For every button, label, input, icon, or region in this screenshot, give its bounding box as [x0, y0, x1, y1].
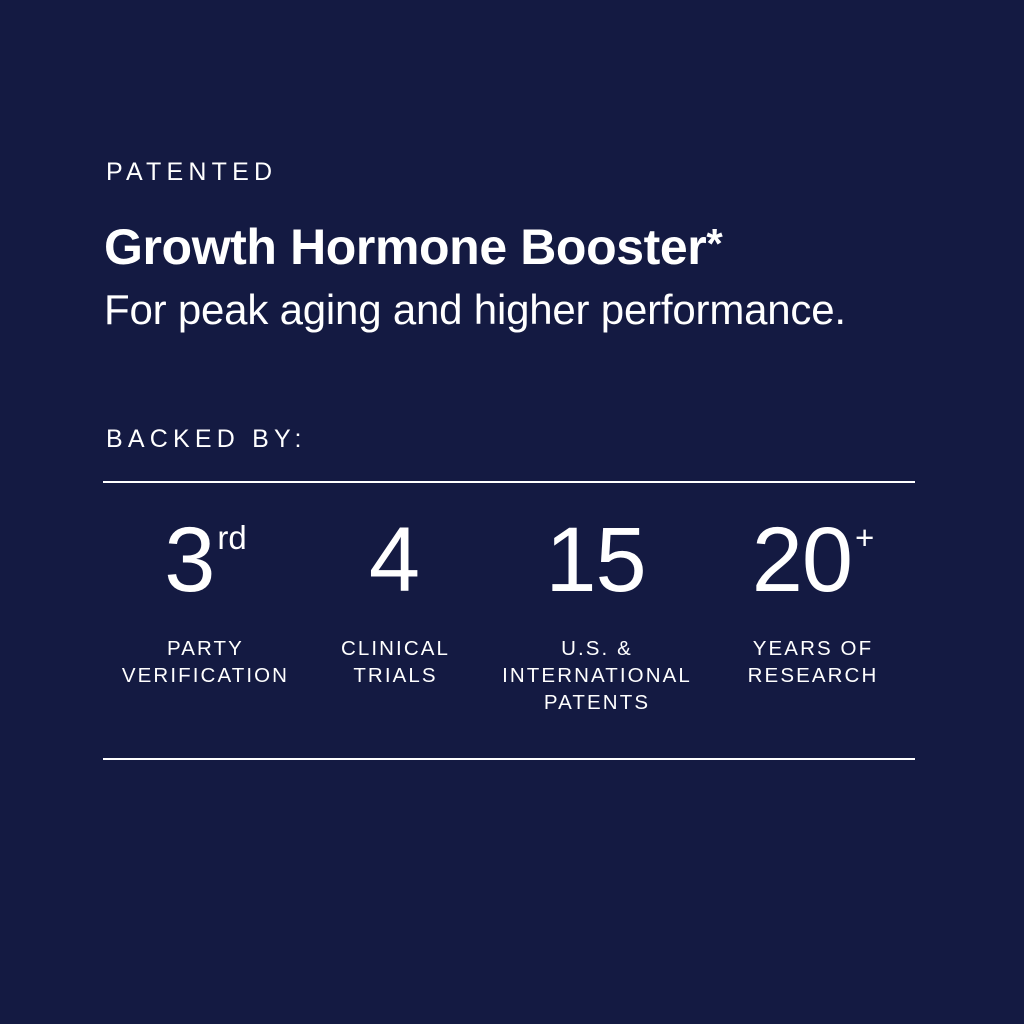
stat-number-value: 20 [752, 515, 852, 605]
divider-top [103, 481, 915, 483]
stat-number-value: 4 [369, 515, 419, 605]
promo-card: PATENTED Growth Hormone Booster* For pea… [0, 0, 1024, 1024]
stat-item: 3rd PARTY VERIFICATION [103, 515, 308, 689]
stat-number: 20+ [752, 515, 875, 623]
page-title: Growth Hormone Booster* [104, 218, 722, 276]
stat-number: 4 [369, 515, 422, 623]
divider-bottom [103, 758, 915, 760]
stat-label: PARTY VERIFICATION [122, 635, 289, 689]
stats-row: 3rd PARTY VERIFICATION 4 CLINICAL TRIALS… [103, 515, 915, 716]
footnote-asterisk: * [706, 220, 722, 267]
stat-number-suffix: rd [217, 521, 246, 554]
stat-number: 15 [545, 515, 648, 623]
stat-item: 20+ YEARS OF RESEARCH [711, 515, 915, 689]
subtitle: For peak aging and higher performance. [104, 285, 846, 335]
backed-by-label: BACKED BY: [106, 427, 307, 452]
stat-number-value: 15 [545, 515, 645, 605]
eyebrow-label: PATENTED [106, 160, 277, 185]
stat-item: 4 CLINICAL TRIALS [308, 515, 483, 689]
stat-item: 15 U.S. & INTERNATIONAL PATENTS [483, 515, 711, 716]
headline-text: Growth Hormone Booster [104, 219, 706, 275]
stat-number-value: 3 [164, 515, 214, 605]
stat-label: U.S. & INTERNATIONAL PATENTS [502, 635, 692, 716]
stat-label: CLINICAL TRIALS [341, 635, 450, 689]
stat-number-suffix: + [855, 521, 874, 554]
stat-number: 3rd [164, 515, 247, 623]
stat-label: YEARS OF RESEARCH [748, 635, 879, 689]
